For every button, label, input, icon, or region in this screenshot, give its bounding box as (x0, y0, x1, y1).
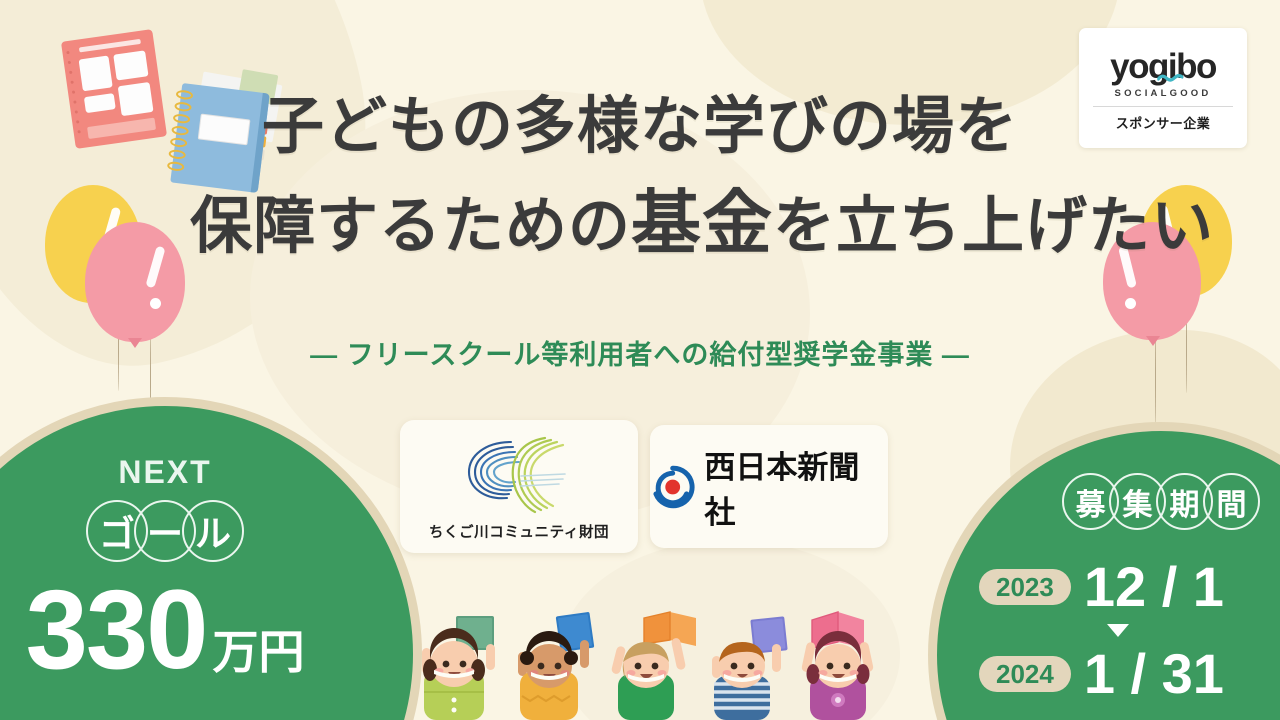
period-dates: 2023 12 / 1 2024 1 / 31 (979, 559, 1279, 702)
period-circle: 募 集 期 間 2023 12 / 1 2024 1 / 31 (928, 422, 1280, 720)
goal-char-circles: ゴ ー ル (0, 500, 413, 562)
children-illustration (400, 608, 880, 720)
headline-line2-part2: を立ち上げたい (773, 192, 1214, 261)
partner-card-nishinippon[interactable]: 西日本新聞社 (650, 425, 888, 548)
partner-name-chikugo: ちくご川コミュニティ財団 (429, 521, 609, 542)
partner-card-chikugo[interactable]: ちくご川コミュニティ財団 (400, 420, 638, 553)
next-label: NEXT (0, 454, 413, 491)
start-date: 12 / 1 (1084, 559, 1224, 615)
campaign-banner: 子どもの多様な学びの場を 保障するための基金を立ち上げたい — フリースクール等… (0, 0, 1280, 720)
subtitle: — フリースクール等利用者への給付型奨学金事業 — (190, 333, 1090, 372)
partner-name-nishinippon: 西日本新聞社 (704, 442, 888, 532)
child-figure (712, 616, 788, 720)
yogibo-logo: yogibo (1110, 44, 1216, 84)
goal-amount-number: 330 (26, 574, 207, 686)
headline-line-1: 子どもの多様な学びの場を (190, 96, 1090, 158)
headline-emphasis: 基金 (631, 184, 773, 262)
goal-amount-unit: 万円 (212, 616, 304, 682)
goal-char: ル (182, 500, 244, 562)
divider (1093, 106, 1233, 107)
child-figure (611, 612, 696, 720)
period-label-circles: 募 集 期 間 (937, 473, 1280, 530)
headline-line2-part1: 保障するための (190, 192, 631, 261)
start-year-badge: 2023 (979, 569, 1071, 606)
sponsor-badge[interactable]: yogibo SOCIALGOOD スポンサー企業 (1079, 28, 1247, 148)
squiggle-icon (1157, 73, 1183, 82)
child-figure (422, 616, 495, 720)
headline-block: 子どもの多様な学びの場を 保障するための基金を立ち上げたい (190, 96, 1090, 258)
headline-line-2: 保障するための基金を立ち上げたい (190, 188, 1090, 258)
worksheet-icon (61, 29, 167, 149)
end-year-badge: 2024 (979, 656, 1071, 693)
nishinippon-logo-icon (650, 464, 695, 510)
child-figure (801, 612, 874, 720)
period-start-row: 2023 12 / 1 (979, 559, 1279, 615)
chikugo-logo-icon (455, 432, 583, 518)
next-goal-circle: NEXT ゴ ー ル 330 万円 (0, 397, 422, 720)
sponsor-tagline: SOCIALGOOD (1115, 88, 1212, 99)
goal-amount: 330 万円 (0, 574, 413, 686)
period-end-row: 2024 1 / 31 (979, 646, 1279, 702)
period-char: 間 (1203, 473, 1260, 530)
sponsor-label: スポンサー企業 (1116, 113, 1211, 132)
child-figure (518, 612, 594, 720)
end-date: 1 / 31 (1084, 646, 1224, 702)
arrow-down-icon (1107, 624, 1129, 637)
